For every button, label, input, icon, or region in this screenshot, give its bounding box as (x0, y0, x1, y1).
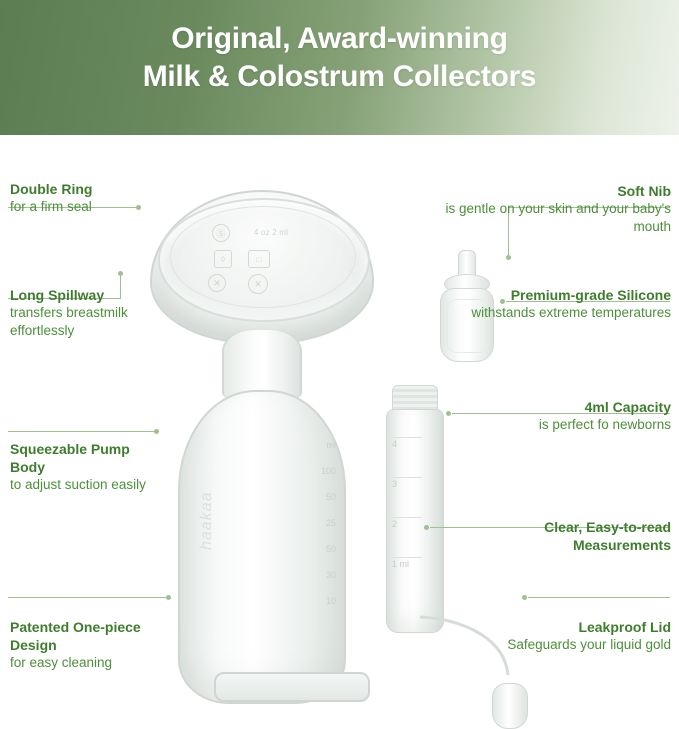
title-line-2: Milk & Colostrum Collectors (0, 58, 679, 96)
callout-leakproof-lid: Leakproof Lid Safeguards your liquid gol… (421, 618, 671, 654)
callout-capacity-head: 4ml Capacity (471, 398, 671, 416)
callout-capacity-sub: is perfect fo newborns (471, 416, 671, 434)
callout-squeezable-sub: to adjust suction easily (10, 476, 160, 494)
callout-measurements-head: Clear, Easy-to-read Measurements (461, 518, 671, 554)
leader-dot (522, 595, 527, 600)
bottle-measurement-scale: 4 3 2 1 ml (392, 437, 422, 597)
collector-base (214, 672, 370, 702)
page-title: Original, Award-winning Milk & Colostrum… (0, 20, 679, 96)
collector-funnel: 4 oz 2 ml Ⓢ ◊ □ ✕ ✕ (150, 190, 374, 344)
callout-capacity: 4ml Capacity is perfect fo newborns (471, 398, 671, 434)
leader-leakproof-lid (528, 597, 670, 598)
collection-bottle-illustration: 4 3 2 1 ml (378, 385, 450, 635)
callout-one-piece-head: Patented One-piece Design (10, 618, 186, 654)
leader-squeezable-body (8, 431, 156, 432)
brand-emboss: haakaa (198, 492, 216, 551)
no-bleach-icon: ✕ (208, 274, 226, 292)
callout-long-spillway-head: Long Spillway (10, 286, 150, 304)
callout-leakproof-sub: Safeguards your liquid gold (421, 636, 671, 654)
callout-silicone-sub: withstands extreme temperatures (441, 304, 671, 322)
collector-measurement-scale: ml 100 50 25 50 30 10 (278, 440, 336, 622)
no-dryer-icon: ✕ (248, 274, 268, 294)
callout-long-spillway-sub: transfers breastmilk effortlessly (10, 304, 150, 340)
callout-clear-measurements: Clear, Easy-to-read Measurements (461, 518, 671, 554)
callout-leakproof-head: Leakproof Lid (421, 618, 671, 636)
leader-one-piece-design (8, 597, 168, 598)
scale-mark: 50 (278, 544, 336, 570)
dishwasher-icon: □ (248, 250, 270, 268)
callout-patented-one-piece-design: Patented One-piece Design for easy clean… (10, 618, 186, 672)
temperature-icon: ◊ (214, 250, 232, 268)
callout-double-ring-sub: for a firm seal (10, 198, 160, 216)
callout-long-spillway: Long Spillway transfers breastmilk effor… (10, 286, 150, 340)
scale-mark: 10 (278, 596, 336, 622)
callout-squeezable-head: Squeezable Pump Body (10, 440, 160, 476)
bottle-scale-mark: 1 ml (392, 557, 422, 597)
header-banner: Original, Award-winning Milk & Colostrum… (0, 0, 679, 135)
leader-dot (424, 525, 429, 530)
bottle-scale-mark: 4 (392, 437, 422, 477)
callout-double-ring-head: Double Ring (10, 180, 160, 198)
no-microwave-icon: Ⓢ (212, 224, 230, 242)
scale-mark: 100 (278, 466, 336, 492)
callout-double-ring: Double Ring for a firm seal (10, 180, 160, 216)
callout-soft-nib: Soft Nib is gentle on your skin and your… (435, 182, 671, 236)
callout-soft-nib-head: Soft Nib (435, 182, 671, 200)
leader-dot (154, 429, 159, 434)
callout-squeezable-pump-body: Squeezable Pump Body to adjust suction e… (10, 440, 160, 494)
leader-dot (446, 411, 451, 416)
scale-mark: 25 (278, 518, 336, 544)
bottle-scale-mark: 2 (392, 517, 422, 557)
scale-mark: 30 (278, 570, 336, 596)
callout-premium-grade-silicone: Premium-grade Silicone withstands extrem… (441, 286, 671, 322)
callout-silicone-head: Premium-grade Silicone (441, 286, 671, 304)
leakproof-lid-illustration (492, 683, 528, 729)
leader-dot (166, 595, 171, 600)
capacity-emboss: 4 oz 2 ml (248, 228, 294, 238)
bottle-scale-mark: 3 (392, 477, 422, 517)
leader-dot (506, 255, 511, 260)
scale-mark: 50 (278, 492, 336, 518)
title-line-1: Original, Award-winning (171, 22, 507, 55)
callout-soft-nib-sub: is gentle on your skin and your baby's m… (435, 200, 671, 236)
scale-mark: ml (278, 440, 336, 466)
product-infographic: Original, Award-winning Milk & Colostrum… (0, 0, 679, 657)
leader-dot (118, 271, 123, 276)
